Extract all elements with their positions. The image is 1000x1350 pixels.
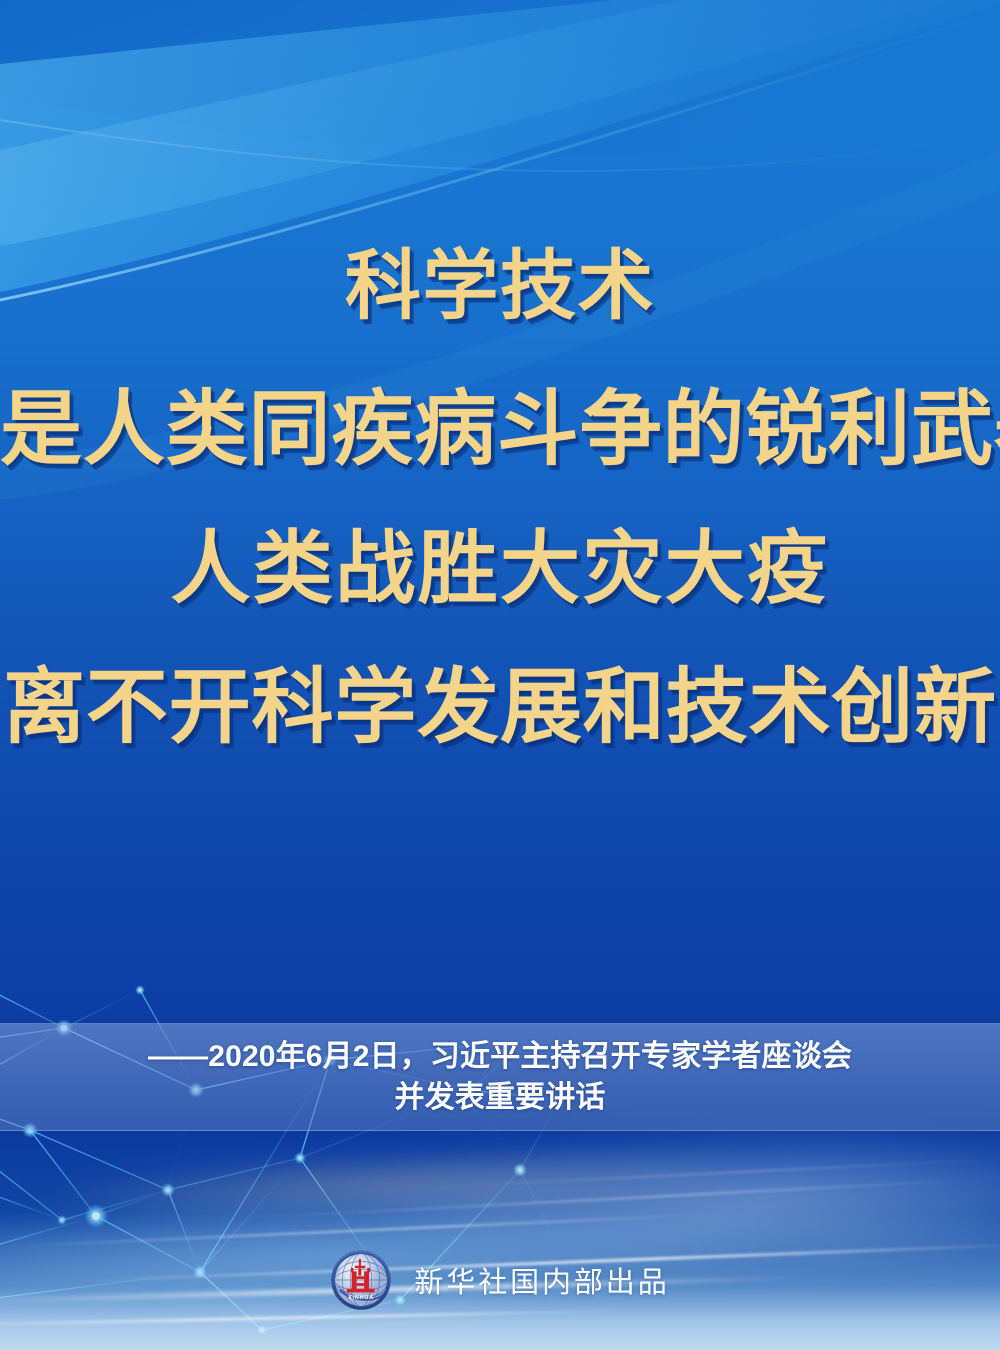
attribution-line-1: ——2020年6月2日，习近平主持召开专家学者座谈会 xyxy=(148,1036,852,1077)
headline-line-4: 离不开科学发展和技术创新 xyxy=(0,666,1000,748)
svg-text:XINHUA: XINHUA xyxy=(348,1295,374,1301)
xinhua-emblem-icon: XINHUA xyxy=(330,1249,392,1311)
publisher-label: 新华社国内部出品 xyxy=(414,1259,669,1301)
attribution-band: ——2020年6月2日，习近平主持召开专家学者座谈会 并发表重要讲话 xyxy=(0,1023,1000,1131)
headline-line-3: 人类战胜大灾大疫 xyxy=(0,528,1000,608)
poster-canvas: 科学技术 是人类同疾病斗争的锐利武器 人类战胜大灾大疫 离不开科学发展和技术创新… xyxy=(0,0,1000,1350)
headline-line-2: 是人类同疾病斗争的锐利武器 xyxy=(0,388,1000,470)
headline-block: 科学技术 是人类同疾病斗争的锐利武器 人类战胜大灾大疫 离不开科学发展和技术创新 xyxy=(0,248,1000,748)
attribution-line-2: 并发表重要讲话 xyxy=(394,1077,605,1118)
footer-credit: XINHUA 新华社国内部出品 xyxy=(0,1243,1000,1317)
headline-line-1: 科学技术 xyxy=(0,248,1000,324)
